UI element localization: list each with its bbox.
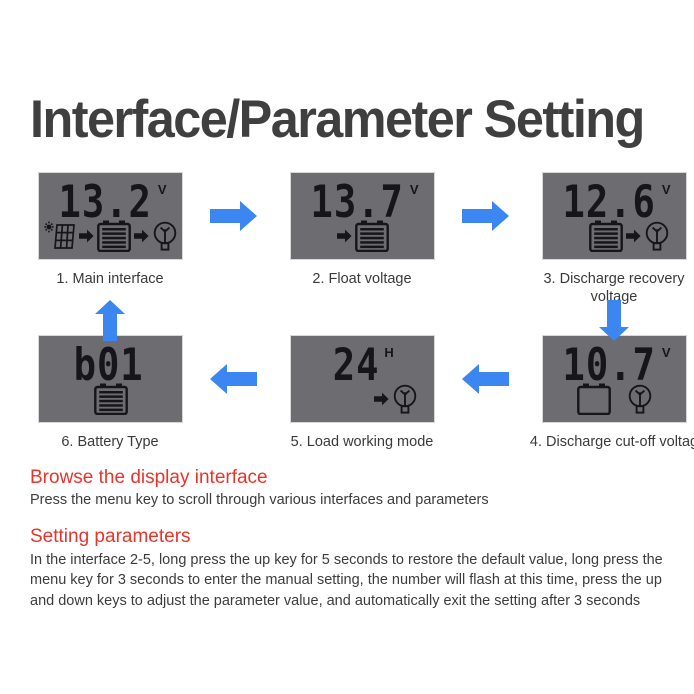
lcd-readout-1: 13.2 V <box>39 179 182 221</box>
flow-arrow-1-to-2 <box>210 200 258 232</box>
panel-6-caption: 6. Battery Type <box>20 433 200 451</box>
lcd-readout-6: b01 <box>39 342 182 384</box>
panel-6: b01 6. Battery Type <box>38 335 183 423</box>
lcd-icon-row-2 <box>291 218 434 254</box>
arrow-right-icon <box>79 229 94 243</box>
bulb-icon <box>392 384 418 414</box>
instructions-block: Browse the display interface Press the m… <box>30 466 680 611</box>
arrow-right-icon <box>374 392 389 406</box>
flow-arrow-4-to-5 <box>462 363 510 395</box>
battery-full-icon <box>97 220 131 252</box>
arrow-right-icon <box>337 229 352 243</box>
arrow-right-icon <box>626 229 641 243</box>
panel-5: 24 H 5. Load working mode <box>290 335 435 423</box>
lcd-screen-4: 10.7 V <box>542 335 687 423</box>
panel-1: 13.2 V <box>38 172 183 260</box>
section-1-heading: Browse the display interface <box>30 466 680 490</box>
bulb-icon <box>627 384 653 414</box>
section-2-body: In the interface 2-5, long press the up … <box>30 550 680 612</box>
lcd-screen-6: b01 <box>38 335 183 423</box>
lcd-readout-2: 13.7 V <box>291 179 434 221</box>
lcd-icon-row-3 <box>543 218 686 254</box>
lcd-screen-2: 13.7 V <box>290 172 435 260</box>
section-1-body: Press the menu key to scroll through var… <box>30 491 680 511</box>
bulb-icon <box>644 221 670 251</box>
lcd-screen-5: 24 H <box>290 335 435 423</box>
lcd-readout-5: 24 H <box>291 342 434 384</box>
flow-arrow-6-to-1 <box>94 300 126 342</box>
panel-1-caption: 1. Main interface <box>20 270 200 288</box>
lcd-icon-row-1 <box>39 218 182 254</box>
battery-full-icon <box>589 220 623 252</box>
lcd-unit-5: H <box>384 345 393 360</box>
interface-flow-diagram: 13.2 V <box>0 160 694 460</box>
panel-2-caption: 2. Float voltage <box>272 270 452 288</box>
lcd-screen-3: 12.6 V <box>542 172 687 260</box>
lcd-icon-row-4 <box>543 381 686 417</box>
page-title: Interface/Parameter Setting <box>30 92 661 148</box>
lcd-readout-3: 12.6 V <box>543 179 686 221</box>
panel-5-caption: 5. Load working mode <box>272 433 452 451</box>
solar-panel-icon <box>44 221 76 251</box>
bulb-icon <box>152 221 178 251</box>
flow-arrow-5-to-6 <box>210 363 258 395</box>
arrow-right-icon <box>134 229 149 243</box>
lcd-unit-2: V <box>410 182 419 197</box>
panel-4-caption: 4. Discharge cut-off voltag <box>524 433 694 451</box>
lcd-readout-4: 10.7 V <box>543 342 686 384</box>
lcd-unit-3: V <box>662 182 671 197</box>
battery-full-icon <box>355 220 389 252</box>
section-2-heading: Setting parameters <box>30 525 680 549</box>
panel-4: 10.7 V 4. Discharge cut-off voltag <box>542 335 687 423</box>
lcd-screen-1: 13.2 V <box>38 172 183 260</box>
flow-arrow-3-to-4 <box>598 300 630 342</box>
battery-full-icon <box>94 383 128 415</box>
lcd-unit-4: V <box>662 345 671 360</box>
panel-2: 13.7 V <box>290 172 435 260</box>
lcd-icon-row-6 <box>39 381 182 417</box>
panel-3: 12.6 V <box>542 172 687 260</box>
lcd-icon-row-5 <box>291 381 434 417</box>
lcd-unit-1: V <box>158 182 167 197</box>
flow-arrow-2-to-3 <box>462 200 510 232</box>
battery-empty-icon <box>577 383 611 415</box>
